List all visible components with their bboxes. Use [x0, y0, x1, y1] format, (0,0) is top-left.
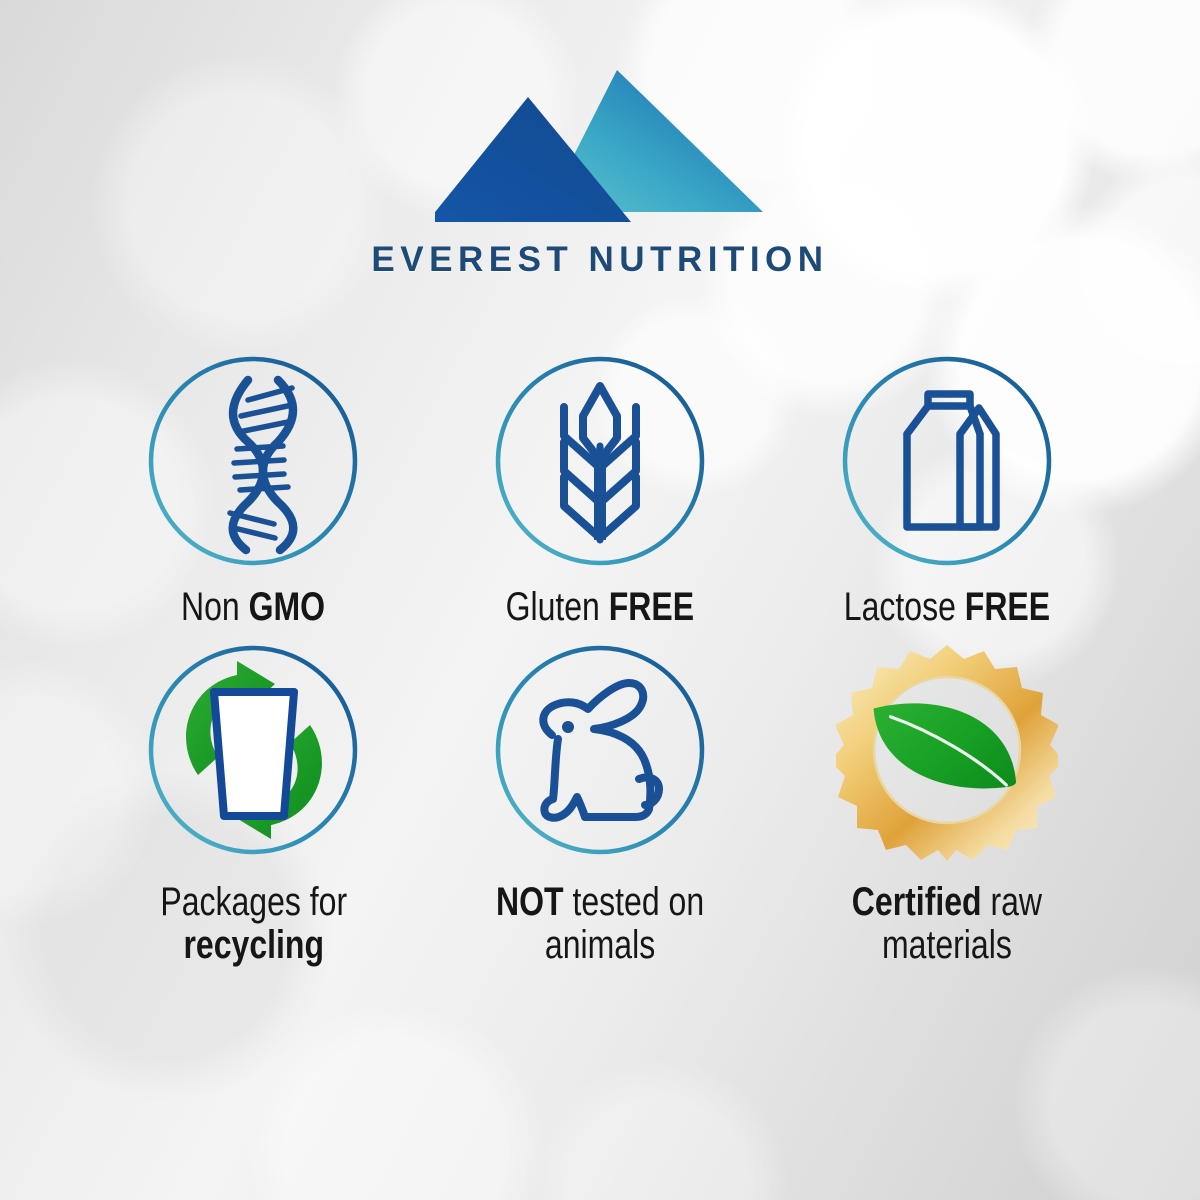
promo-graphic-canvas: EVEREST NUTRITION — [0, 0, 1200, 1200]
brand-wordmark: EVEREST NUTRITION — [0, 240, 1200, 280]
rabbit-eye-icon — [562, 721, 574, 733]
label-light: Gluten — [506, 585, 609, 629]
label-bold: GMO — [249, 585, 325, 629]
certified-leaf-seal-icon — [836, 639, 1058, 861]
badge-non-gmo[interactable]: Non GMO — [80, 350, 427, 629]
badge-packages-for-recycling[interactable]: Packages for recycling — [80, 639, 427, 967]
label-line-1-bold: Certified — [852, 880, 982, 924]
milk-carton-icon — [836, 350, 1058, 572]
rabbit-icon — [489, 639, 711, 861]
badge-label-non-gmo: Non GMO — [181, 586, 325, 629]
dna-helix-icon — [142, 350, 364, 572]
label-line-1: Packages for — [160, 880, 347, 924]
label-line-2: materials — [882, 923, 1012, 967]
badge-lactose-free[interactable]: Lactose FREE — [773, 350, 1120, 629]
brand-logo: EVEREST NUTRITION — [0, 62, 1200, 280]
badge-certified-raw-materials[interactable]: Certified raw materials — [773, 639, 1120, 967]
label-bold: FREE — [964, 585, 1049, 629]
label-line-2: animals — [545, 923, 655, 967]
label-line-2: recycling — [183, 923, 324, 967]
badge-label-lactose-free: Lactose FREE — [843, 586, 1049, 629]
badge-label-not-tested-on-animals: NOT tested on animals — [496, 881, 704, 967]
wheat-stalk-icon — [489, 350, 711, 572]
mountain-peaks-icon — [435, 62, 765, 232]
label-bold: FREE — [609, 585, 694, 629]
badge-gluten-free[interactable]: Gluten FREE — [427, 350, 774, 629]
badge-not-tested-on-animals[interactable]: NOT tested on animals — [427, 639, 774, 967]
label-line-1-bold: NOT — [496, 880, 564, 924]
label-line-1-light: raw — [981, 880, 1041, 924]
badge-label-certified-raw-materials: Certified raw materials — [852, 881, 1042, 967]
label-line-1-light: tested on — [563, 880, 704, 924]
badge-label-gluten-free: Gluten FREE — [506, 586, 695, 629]
label-light: Non — [181, 585, 249, 629]
recycling-arrows-cup-icon — [142, 639, 364, 861]
badge-grid: Non GMO — [80, 350, 1120, 966]
label-light: Lactose — [843, 585, 964, 629]
badge-label-packages-for-recycling: Packages for recycling — [160, 881, 347, 967]
